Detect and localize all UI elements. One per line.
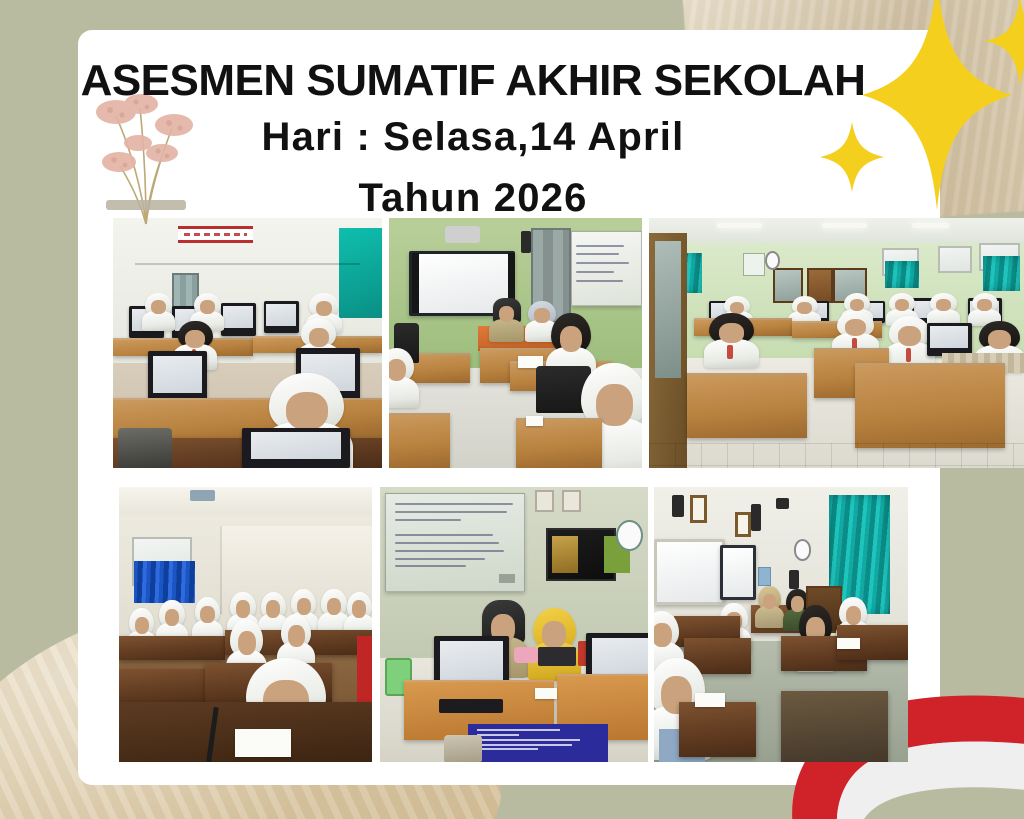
speaker-icon	[672, 495, 685, 517]
photo-classroom-proctors	[389, 218, 642, 468]
proctor-figure	[758, 586, 781, 625]
photo-computer-lab-2	[649, 218, 1024, 468]
exam-year-subtitle: Tahun 2026	[0, 176, 946, 221]
projector-screen	[385, 493, 524, 592]
speaker-icon	[776, 498, 789, 509]
computer-screen-blue	[468, 724, 607, 763]
photo-classroom-green-curtain	[654, 487, 908, 762]
wall-clock-icon	[616, 520, 643, 551]
wall-poster	[546, 528, 616, 580]
poster-canvas: ASESMEN SUMATIF AKHIR SEKOLAH Hari : Sel…	[0, 0, 1024, 819]
photo-collage	[113, 218, 1024, 762]
student-figure	[889, 316, 930, 366]
student-figure	[195, 597, 220, 641]
computer-monitor	[242, 428, 350, 468]
wall-portrait	[690, 495, 708, 523]
student-figure	[930, 293, 956, 323]
whiteboard	[720, 545, 756, 600]
computer-monitor	[927, 323, 972, 356]
student-figure	[347, 592, 372, 636]
projector-screen	[654, 539, 725, 605]
student-figure	[145, 293, 172, 328]
student-figure	[972, 293, 998, 323]
window-curtain	[983, 256, 1021, 291]
projector-screen	[571, 231, 642, 306]
student-figure	[321, 589, 346, 633]
wall-portrait	[735, 512, 750, 537]
page-title: ASESMEN SUMATIF AKHIR SEKOLAH	[0, 56, 946, 106]
headline-block: ASESMEN SUMATIF AKHIR SEKOLAH Hari : Sel…	[0, 0, 946, 200]
exam-day-subtitle: Hari : Selasa,14 April	[0, 115, 946, 160]
speaker-icon	[789, 570, 799, 589]
window-curtain	[885, 261, 919, 289]
student-figure	[389, 348, 414, 403]
photo-proctors-projector	[380, 487, 648, 762]
photo-computer-lab-1	[113, 218, 382, 468]
speaker-icon	[521, 231, 531, 254]
window-curtain-blue	[134, 561, 195, 602]
proctor-figure	[493, 298, 521, 338]
student-figure	[709, 313, 754, 363]
student-figure	[837, 311, 875, 354]
photo-students-writing	[119, 487, 372, 762]
sparkle-tiny-icon	[985, 0, 1024, 86]
speaker-icon	[751, 504, 761, 532]
